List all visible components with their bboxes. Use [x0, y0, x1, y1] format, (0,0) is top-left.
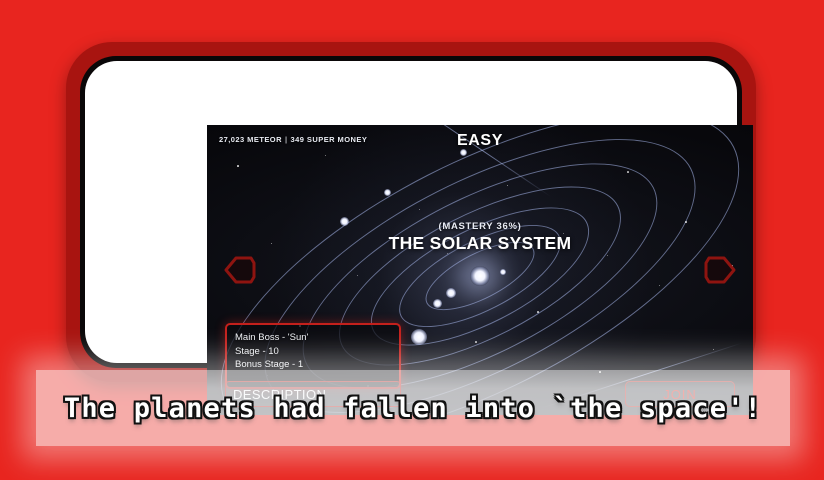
star — [713, 349, 714, 350]
info-line-stage: Stage - 10 — [235, 345, 391, 359]
star — [419, 209, 420, 210]
info-line-main-boss: Main Boss - 'Sun' — [235, 331, 391, 345]
star — [357, 275, 358, 276]
star — [237, 165, 239, 167]
planet-outer-2 — [460, 149, 467, 156]
star — [325, 155, 326, 156]
star — [507, 185, 508, 186]
planet-inner-2 — [433, 299, 442, 308]
star — [607, 255, 608, 256]
difficulty-label: EASY — [207, 132, 753, 150]
phone-device: 27,023 METEOR|349 SUPER MONEY EASY (MAST… — [66, 42, 756, 382]
system-title-block: (MASTERY 36%) THE SOLAR SYSTEM — [207, 221, 753, 254]
star — [659, 285, 660, 286]
star — [475, 341, 477, 343]
planet-inner-3 — [500, 269, 506, 275]
mastery-label: (MASTERY 36%) — [207, 221, 753, 232]
planet-outer-3 — [384, 189, 391, 196]
planet-mid-1 — [411, 329, 427, 345]
chevron-left-icon — [223, 250, 257, 290]
prev-arrow-button[interactable] — [223, 250, 257, 290]
sun-body — [470, 266, 490, 286]
system-name-label: THE SOLAR SYSTEM — [207, 233, 753, 254]
planet-inner-1 — [446, 288, 456, 298]
caption-text: The planets had fallen into `the space'! — [36, 370, 790, 446]
star — [537, 311, 539, 313]
chevron-right-icon — [703, 250, 737, 290]
star — [627, 171, 629, 173]
next-arrow-button[interactable] — [703, 250, 737, 290]
